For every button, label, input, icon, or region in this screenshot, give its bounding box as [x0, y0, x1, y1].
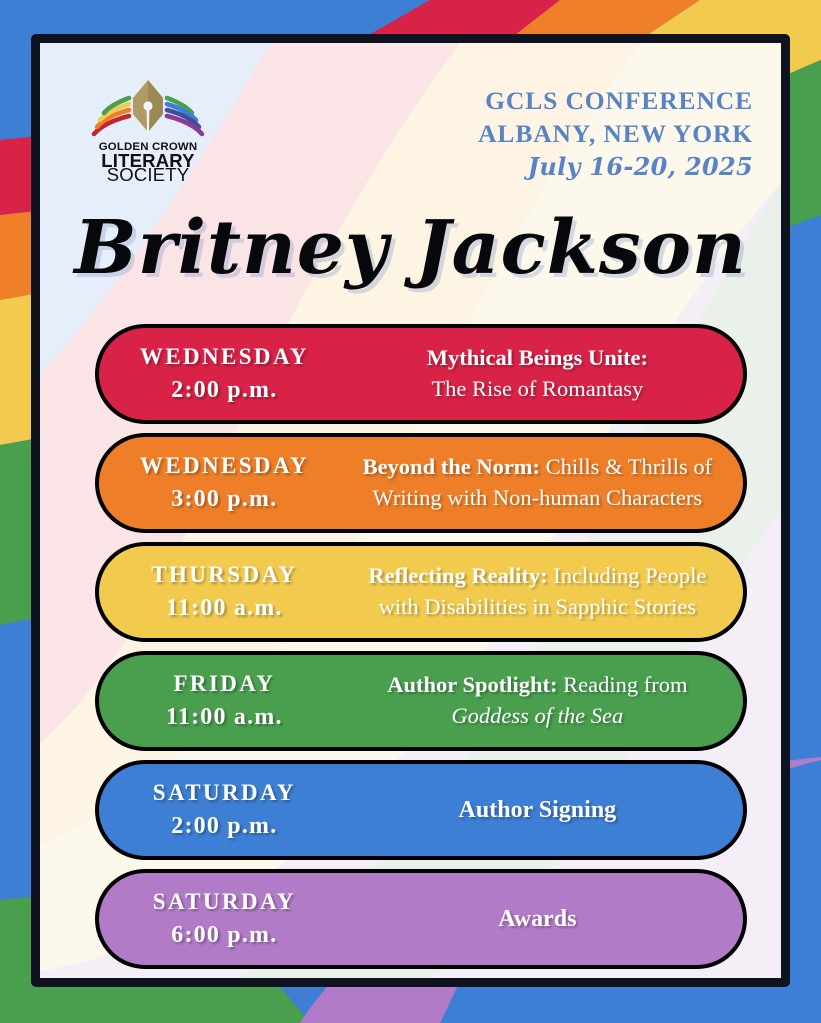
event-time: 3:00 p.m. [105, 482, 344, 517]
schedule-row-6[interactable]: SATURDAY 6:00 p.m. Awards [95, 869, 747, 969]
event-when: SATURDAY 6:00 p.m. [99, 885, 344, 953]
schedule-row-5[interactable]: SATURDAY 2:00 p.m. Author Signing [95, 760, 747, 860]
event-when: WEDNESDAY 2:00 p.m. [99, 340, 344, 408]
schedule-row-1[interactable]: WEDNESDAY 2:00 p.m. Mythical Beings Unit… [95, 324, 747, 424]
schedule-list: WEDNESDAY 2:00 p.m. Mythical Beings Unit… [95, 324, 747, 978]
svg-text:SOCIETY: SOCIETY [107, 164, 190, 182]
event-day: WEDNESDAY [105, 340, 344, 373]
poster-frame: GOLDEN CROWN LITERARY SOCIETY GCLS CONFE… [31, 34, 790, 987]
event-title: Awards [344, 903, 743, 936]
conference-location: ALBANY, NEW YORK [478, 118, 753, 151]
event-title: Reflecting Reality: Including People wit… [344, 561, 743, 622]
schedule-row-2[interactable]: WEDNESDAY 3:00 p.m. Beyond the Norm: Chi… [95, 433, 747, 533]
event-day: FRIDAY [105, 667, 344, 700]
event-title: Author Spotlight: Reading from Goddess o… [344, 670, 743, 731]
event-when: FRIDAY 11:00 a.m. [99, 667, 344, 735]
event-when: THURSDAY 11:00 a.m. [99, 558, 344, 626]
logo-graphic: GOLDEN CROWN LITERARY SOCIETY [87, 76, 209, 182]
pen-nib-icon [133, 80, 163, 134]
event-time: 2:00 p.m. [105, 809, 344, 844]
event-time: 11:00 a.m. [105, 591, 344, 626]
event-day: WEDNESDAY [105, 449, 344, 482]
poster-inner-panel: GOLDEN CROWN LITERARY SOCIETY GCLS CONFE… [40, 43, 781, 978]
conference-dates: July 16-20, 2025 [478, 151, 753, 182]
schedule-row-4[interactable]: FRIDAY 11:00 a.m. Author Spotlight: Read… [95, 651, 747, 751]
event-title-bold: Reflecting Reality: [368, 563, 547, 588]
conference-name: GCLS CONFERENCE [478, 85, 753, 118]
event-day: THURSDAY [105, 558, 344, 591]
event-title-italic: Goddess of the Sea [451, 703, 623, 728]
event-title-bold: Mythical Beings Unite: [427, 345, 648, 370]
event-day: SATURDAY [105, 885, 344, 918]
event-time: 6:00 p.m. [105, 918, 344, 953]
event-schedule-poster: GOLDEN CROWN LITERARY SOCIETY GCLS CONFE… [0, 0, 821, 1023]
event-time: 11:00 a.m. [105, 700, 344, 735]
event-title: Mythical Beings Unite: The Rise of Roman… [344, 343, 743, 404]
rainbow-arcs-left [94, 98, 129, 134]
author-name: Britney Jackson [40, 211, 781, 285]
schedule-row-3[interactable]: THURSDAY 11:00 a.m. Reflecting Reality: … [95, 542, 747, 642]
event-time: 2:00 p.m. [105, 373, 344, 408]
event-title: Beyond the Norm: Chills & Thrills of Wri… [344, 452, 743, 513]
event-day: SATURDAY [105, 776, 344, 809]
event-title-bold: Beyond the Norm: [363, 454, 540, 479]
event-title-bold: Author Spotlight: [387, 672, 557, 697]
event-title-rest: Reading from [563, 672, 687, 697]
gcls-logo: GOLDEN CROWN LITERARY SOCIETY [87, 76, 209, 182]
event-when: SATURDAY 2:00 p.m. [99, 776, 344, 844]
event-title-rest: The Rise of Romantasy [431, 376, 643, 401]
event-when: WEDNESDAY 3:00 p.m. [99, 449, 344, 517]
conference-header: GCLS CONFERENCE ALBANY, NEW YORK July 16… [478, 85, 753, 182]
event-title: Author Signing [344, 794, 743, 827]
rainbow-arcs-right [167, 98, 202, 134]
